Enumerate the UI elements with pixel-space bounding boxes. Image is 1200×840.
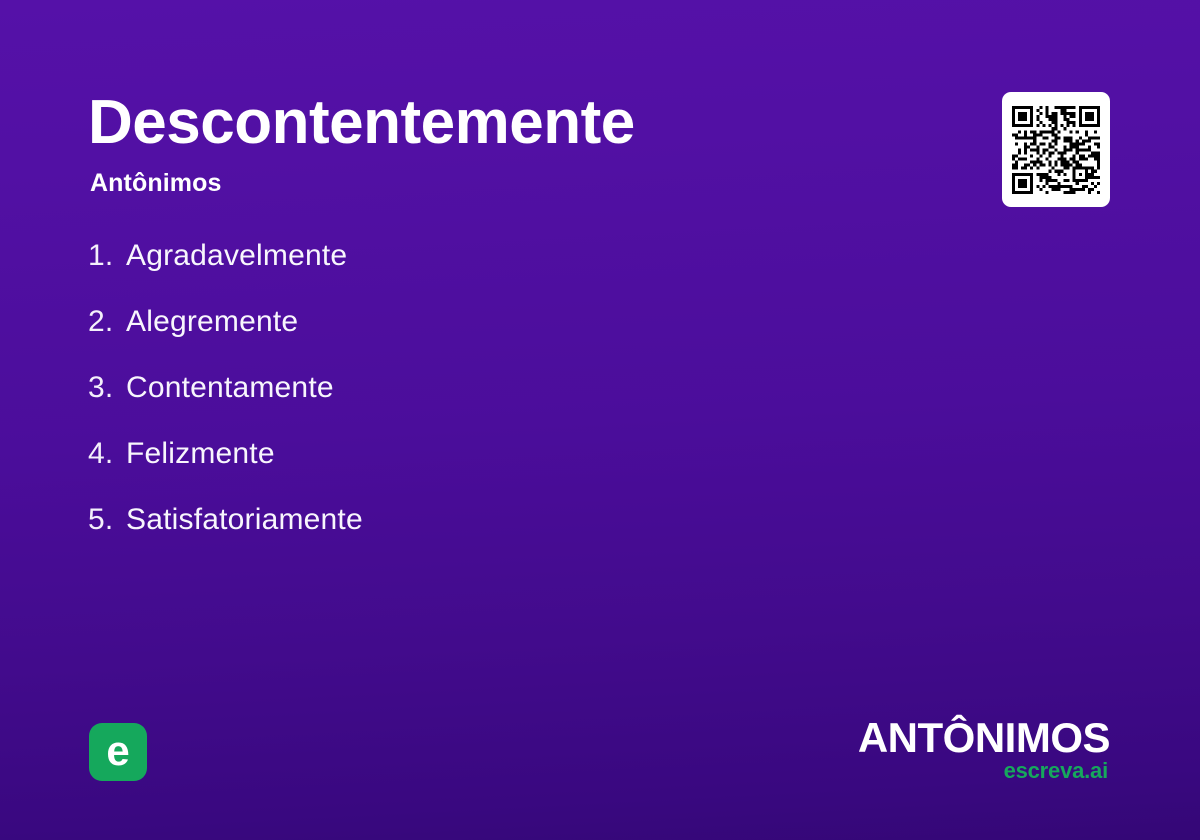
qr-code-panel[interactable]	[1002, 92, 1110, 207]
antonym-list: 1.Agradavelmente 2.Alegremente 3.Content…	[88, 233, 868, 563]
list-item-word: Felizmente	[126, 437, 275, 470]
list-item-word: Contentamente	[126, 371, 334, 404]
list-item: 3.Contentamente	[88, 365, 868, 431]
list-item: 2.Alegremente	[88, 299, 868, 365]
headline-block: Descontentemente Antônimos	[88, 90, 948, 198]
wordmark-domain: escreva.ai	[790, 760, 1108, 782]
list-item-index: 3.	[88, 365, 126, 411]
list-item-index: 5.	[88, 497, 126, 543]
list-item: 1.Agradavelmente	[88, 233, 868, 299]
list-item-index: 4.	[88, 431, 126, 477]
page-title: Descontentemente	[88, 90, 948, 155]
antonimos-card: Descontentemente Antônimos 1.Agradavelme…	[0, 0, 1200, 840]
page-subtitle: Antônimos	[90, 169, 948, 198]
list-item-index: 2.	[88, 299, 126, 345]
qr-code-icon	[1012, 106, 1100, 194]
wordmark-title: ANTÔNIMOS	[790, 718, 1110, 758]
list-item-word: Satisfatoriamente	[126, 503, 363, 536]
list-item-word: Agradavelmente	[126, 239, 347, 272]
list-item: 5.Satisfatoriamente	[88, 497, 868, 563]
brand-badge-letter: e	[106, 730, 129, 772]
brand-wordmark: ANTÔNIMOS escreva.ai	[790, 718, 1110, 782]
list-item-word: Alegremente	[126, 305, 298, 338]
list-item-index: 1.	[88, 233, 126, 279]
list-item: 4.Felizmente	[88, 431, 868, 497]
brand-badge[interactable]: e	[89, 723, 147, 781]
